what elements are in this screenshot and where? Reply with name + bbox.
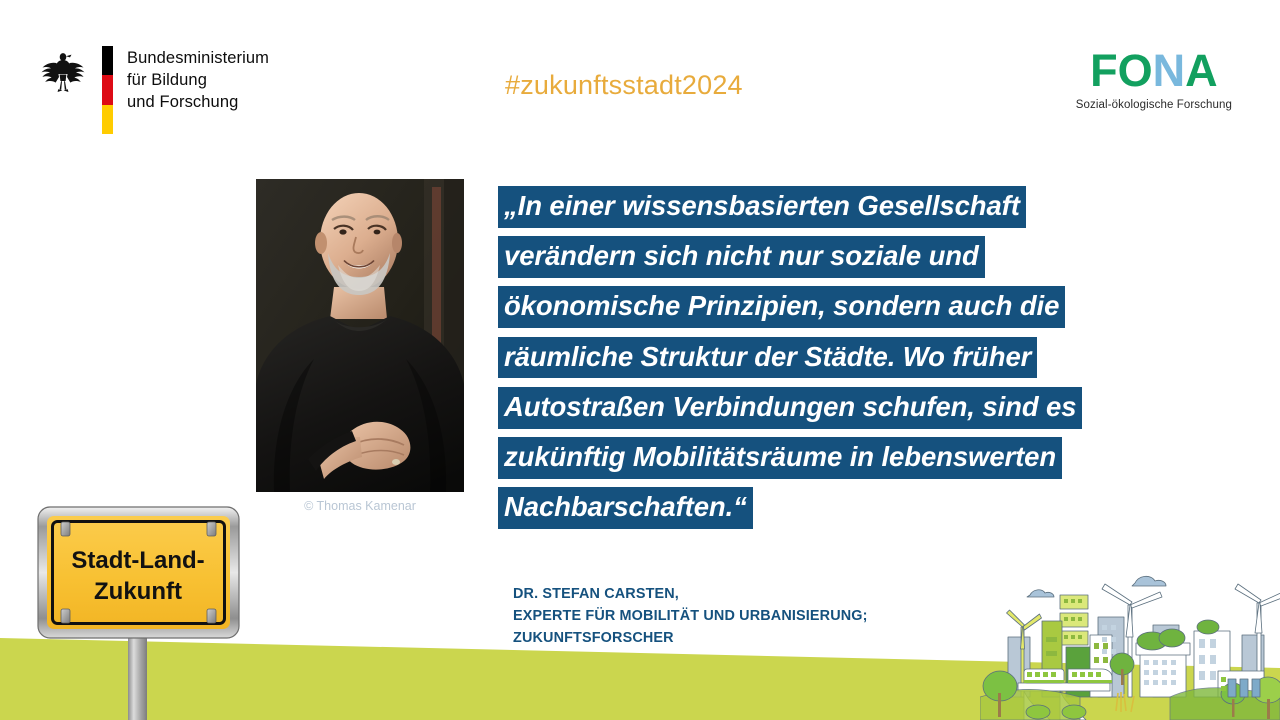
fona-letter-f: F	[1090, 48, 1118, 93]
quote-line: ökonomische Prinzipien, sondern auch die	[498, 286, 1218, 328]
quote-line: räumliche Struktur der Städte. Wo früher	[498, 337, 1218, 379]
quote-line-text: zukünftig Mobilitätsräume in lebenswerte…	[498, 437, 1062, 479]
quote-line-text: Nachbarschaften.“	[498, 487, 753, 529]
quote-line: Autostraßen Verbindungen schufen, sind e…	[498, 387, 1218, 429]
quote-line-text: verändern sich nicht nur soziale und	[498, 236, 985, 278]
german-flag-stripe-icon	[102, 46, 113, 134]
fona-letter-a: A	[1185, 48, 1218, 93]
sustainable-city-illustration	[980, 565, 1280, 720]
campaign-hashtag: #zukunftsstadt2024	[505, 70, 743, 101]
road-sign-graphic: Stadt-Land- Zukunft	[36, 505, 241, 720]
quote-line: „In einer wissensbasierten Gesellschaft	[498, 186, 1218, 228]
quote-block: „In einer wissensbasierten Gesellschaft …	[498, 186, 1218, 538]
quote-line-text: Autostraßen Verbindungen schufen, sind e…	[498, 387, 1082, 429]
ministry-name: Bundesministerium für Bildung und Forsch…	[127, 46, 269, 113]
fona-subtitle: Sozial-ökologische Forschung	[1076, 99, 1232, 111]
fona-wordmark: FONA	[1076, 48, 1232, 93]
quote-line: Nachbarschaften.“	[498, 487, 1218, 529]
road-sign-line-1: Stadt-Land-	[71, 547, 204, 574]
federal-eagle-icon	[40, 48, 86, 96]
fona-letter-o: O	[1118, 48, 1153, 93]
quote-line: verändern sich nicht nur soziale und	[498, 236, 1218, 278]
bmbf-logo: Bundesministerium für Bildung und Forsch…	[40, 46, 269, 134]
attribution-name: DR. STEFAN CARSTEN,	[513, 584, 868, 606]
quote-attribution: DR. STEFAN CARSTEN, EXPERTE FÜR MOBILITÄ…	[513, 584, 868, 650]
quote-line-text: räumliche Struktur der Städte. Wo früher	[498, 337, 1037, 379]
portrait-image	[256, 179, 464, 492]
quote-line-text: ökonomische Prinzipien, sondern auch die	[498, 286, 1065, 328]
attribution-role-2: ZUKUNFTSFORSCHER	[513, 628, 868, 650]
attribution-role: EXPERTE FÜR MOBILITÄT UND URBANISIERUNG;	[513, 606, 868, 628]
slide-canvas: Bundesministerium für Bildung und Forsch…	[0, 0, 1280, 720]
quote-line: zukünftig Mobilitätsräume in lebenswerte…	[498, 437, 1218, 479]
portrait-photo	[256, 179, 464, 492]
photo-credit: © Thomas Kamenar	[256, 499, 464, 513]
fona-letter-n: N	[1153, 48, 1186, 93]
ministry-line-1: Bundesministerium	[127, 47, 269, 69]
road-sign-line-2: Zukunft	[94, 578, 182, 605]
fona-logo: FONA Sozial-ökologische Forschung	[1076, 48, 1232, 111]
ministry-line-3: und Forschung	[127, 91, 269, 113]
ministry-line-2: für Bildung	[127, 69, 269, 91]
quote-line-text: „In einer wissensbasierten Gesellschaft	[498, 186, 1026, 228]
